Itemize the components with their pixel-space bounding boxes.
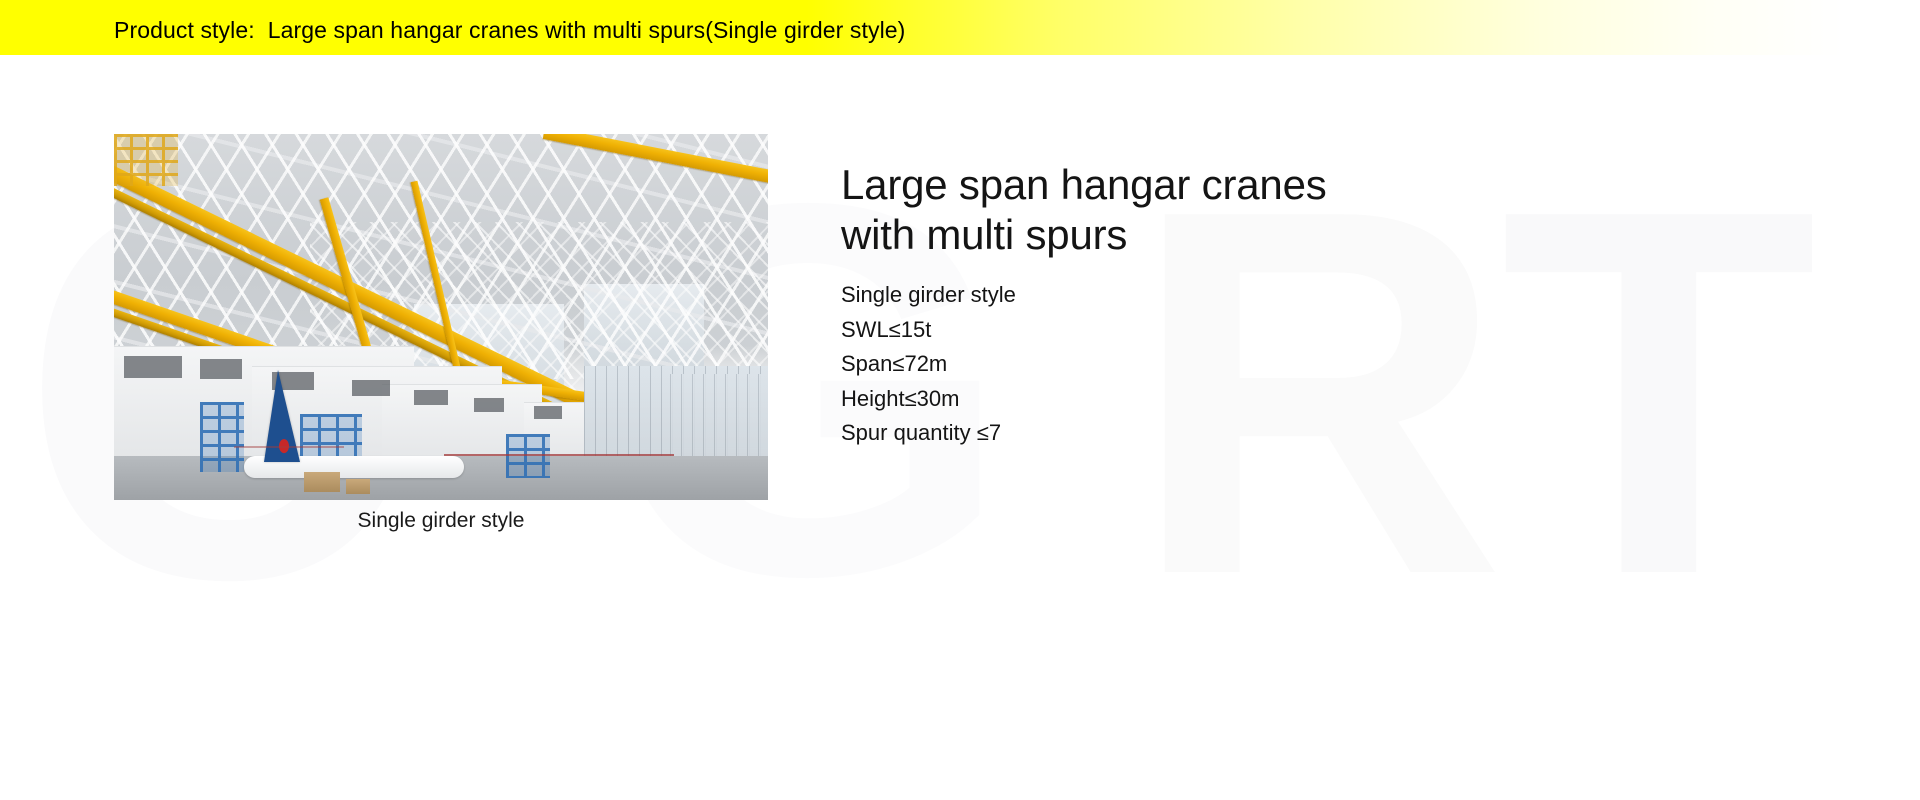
header-bar: Product style: Large span hangar cranes …	[0, 0, 1920, 55]
spec-item-height: Height≤30m	[841, 382, 1481, 417]
maintenance-scaffold	[506, 434, 550, 478]
wall-window	[474, 398, 504, 412]
spec-item-style: Single girder style	[841, 278, 1481, 313]
floor-marking	[234, 446, 344, 448]
spec-item-swl: SWL≤15t	[841, 313, 1481, 348]
wall-window	[352, 380, 390, 396]
wall-window	[200, 359, 242, 379]
maintenance-scaffold	[114, 134, 178, 186]
ground-crate	[304, 472, 340, 492]
product-info-panel: Large span hangar cranes with multi spur…	[841, 160, 1481, 451]
wall-window	[414, 390, 448, 405]
watermark-letter-t: T	[1500, 133, 1818, 653]
hangar-photo	[114, 134, 768, 500]
photo-caption: Single girder style	[114, 506, 768, 536]
product-spec-list: Single girder style SWL≤15t Span≤72m Hei…	[841, 278, 1481, 451]
ground-crate	[346, 479, 370, 494]
product-title: Large span hangar cranes with multi spur…	[841, 160, 1481, 260]
spec-item-span: Span≤72m	[841, 347, 1481, 382]
spec-item-spur-quantity: Spur quantity ≤7	[841, 416, 1481, 451]
wall-window	[124, 356, 182, 378]
maintenance-scaffold	[200, 402, 244, 472]
hangar-photo-image	[114, 134, 768, 500]
floor-marking	[444, 454, 674, 456]
header-title: Product style: Large span hangar cranes …	[114, 16, 905, 44]
wall-window	[534, 406, 562, 419]
